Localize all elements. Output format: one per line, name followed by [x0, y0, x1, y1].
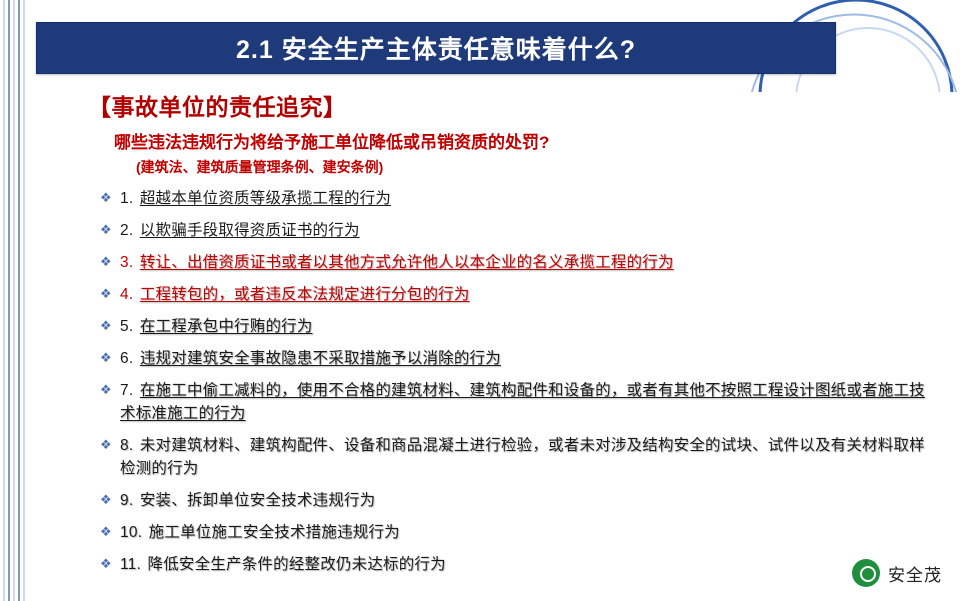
list-item-body: 工程转包的，或者违反本法规定进行分包的行为 — [140, 286, 470, 303]
list-item-number: 6. — [120, 350, 133, 367]
list-item-number: 3. — [120, 254, 133, 271]
diamond-bullet-icon: ❖ — [98, 251, 120, 273]
list-item-text: 9. 安装、拆卸单位安全技术违规行为 — [120, 489, 940, 512]
logo-icon — [852, 559, 880, 587]
list-item-body: 在施工中偷工减料的，使用不合格的建筑材料、建筑构配件和设备的，或者有其他不按照工… — [120, 382, 925, 422]
list-item: ❖8. 未对建筑材料、建筑构配件、设备和商品混凝土进行检验，或者未对涉及结构安全… — [98, 434, 940, 480]
list-item: ❖9. 安装、拆卸单位安全技术违规行为 — [98, 489, 940, 512]
list-item: ❖10. 施工单位施工安全技术措施违规行为 — [98, 521, 940, 544]
list-item: ❖6. 违规对建筑安全事故隐患不采取措施予以消除的行为 — [98, 347, 940, 370]
violation-list: ❖1. 超越本单位资质等级承揽工程的行为❖2. 以欺骗手段取得资质证书的行为❖3… — [98, 187, 940, 576]
list-item-body: 以欺骗手段取得资质证书的行为 — [140, 222, 360, 239]
diamond-bullet-icon: ❖ — [98, 434, 120, 456]
list-item-body: 降低安全生产条件的经整改仍未达标的行为 — [148, 556, 446, 573]
list-item: ❖5. 在工程承包中行贿的行为 — [98, 315, 940, 338]
diamond-bullet-icon: ❖ — [98, 219, 120, 241]
question-heading: 哪些违法违规行为将给予施工单位降低或吊销资质的处罚? — [114, 128, 940, 153]
list-item-text: 8. 未对建筑材料、建筑构配件、设备和商品混凝土进行检验，或者未对涉及结构安全的… — [120, 434, 940, 480]
list-item-text: 4. 工程转包的，或者违反本法规定进行分包的行为 — [120, 283, 940, 306]
list-item-text: 6. 违规对建筑安全事故隐患不采取措施予以消除的行为 — [120, 347, 940, 370]
list-item-body: 超越本单位资质等级承揽工程的行为 — [140, 190, 391, 207]
list-item-text: 2. 以欺骗手段取得资质证书的行为 — [120, 219, 940, 242]
list-item-number: 10. — [120, 524, 142, 541]
section-heading: 【事故单位的责任追究】 — [88, 88, 940, 122]
list-item-number: 2. — [120, 222, 133, 239]
list-item-number: 5. — [120, 318, 133, 335]
list-item-number: 7. — [120, 382, 133, 399]
list-item-body: 施工单位施工安全技术措施违规行为 — [149, 524, 400, 541]
list-item-body: 在工程承包中行贿的行为 — [140, 318, 313, 335]
diamond-bullet-icon: ❖ — [98, 187, 120, 209]
list-item-number: 8. — [120, 437, 133, 454]
list-item-body: 未对建筑材料、建筑构配件、设备和商品混凝土进行检验，或者未对涉及结构安全的试块、… — [120, 437, 925, 477]
list-item-body: 安装、拆卸单位安全技术违规行为 — [140, 492, 376, 509]
diamond-bullet-icon: ❖ — [98, 489, 120, 511]
diamond-bullet-icon: ❖ — [98, 283, 120, 305]
slide-title-bar: 2.1 安全生产主体责任意味着什么? — [36, 22, 836, 74]
list-item-text: 10. 施工单位施工安全技术措施违规行为 — [120, 521, 940, 544]
list-item-number: 11. — [120, 556, 141, 573]
list-item: ❖3. 转让、出借资质证书或者以其他方式允许他人以本企业的名义承揽工程的行为 — [98, 251, 940, 274]
list-item: ❖7. 在施工中偷工减料的，使用不合格的建筑材料、建筑构配件和设备的，或者有其他… — [98, 379, 940, 425]
list-item-number: 1. — [120, 190, 133, 207]
list-item-text: 11. 降低安全生产条件的经整改仍未达标的行为 — [120, 553, 940, 576]
diamond-bullet-icon: ❖ — [98, 315, 120, 337]
list-item-body: 转让、出借资质证书或者以其他方式允许他人以本企业的名义承揽工程的行为 — [140, 254, 674, 271]
diamond-bullet-icon: ❖ — [98, 347, 120, 369]
list-item: ❖4. 工程转包的，或者违反本法规定进行分包的行为 — [98, 283, 940, 306]
footer-logo-label: 安全茂 — [888, 561, 942, 586]
list-item-body: 违规对建筑安全事故隐患不采取措施予以消除的行为 — [140, 350, 501, 367]
list-item: ❖1. 超越本单位资质等级承揽工程的行为 — [98, 187, 940, 210]
list-item-text: 5. 在工程承包中行贿的行为 — [120, 315, 940, 338]
diamond-bullet-icon: ❖ — [98, 379, 120, 401]
list-item-text: 3. 转让、出借资质证书或者以其他方式允许他人以本企业的名义承揽工程的行为 — [120, 251, 940, 274]
list-item-text: 1. 超越本单位资质等级承揽工程的行为 — [120, 187, 940, 210]
diamond-bullet-icon: ❖ — [98, 553, 120, 575]
list-item-number: 4. — [120, 286, 133, 303]
list-item: ❖2. 以欺骗手段取得资质证书的行为 — [98, 219, 940, 242]
footer-logo: 安全茂 — [852, 559, 942, 587]
list-item: ❖11. 降低安全生产条件的经整改仍未达标的行为 — [98, 553, 940, 576]
left-decor-stripes — [0, 0, 26, 601]
page-title: 2.1 安全生产主体责任意味着什么? — [236, 30, 636, 66]
list-item-text: 7. 在施工中偷工减料的，使用不合格的建筑材料、建筑构配件和设备的，或者有其他不… — [120, 379, 940, 425]
list-item-number: 9. — [120, 492, 133, 509]
diamond-bullet-icon: ❖ — [98, 521, 120, 543]
source-note: (建筑法、建筑质量管理条例、建安条例) — [136, 157, 940, 177]
slide-content: 【事故单位的责任追究】 哪些违法违规行为将给予施工单位降低或吊销资质的处罚? (… — [80, 88, 940, 585]
